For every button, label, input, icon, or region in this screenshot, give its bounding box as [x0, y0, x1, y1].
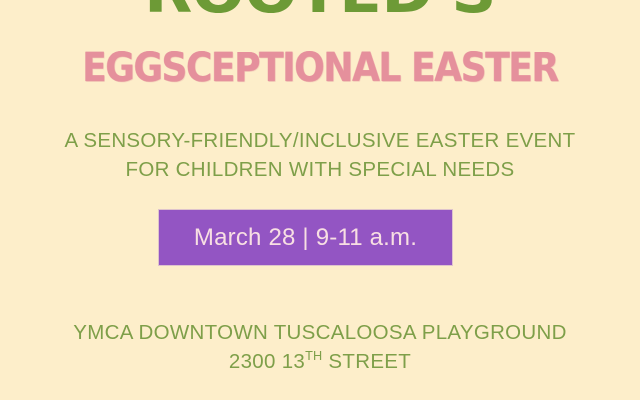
location-venue: YMCA DOWNTOWN TUSCALOOSA PLAYGROUND [0, 318, 640, 347]
date-time-text: March 28 | 9-11 a.m. [194, 225, 417, 251]
location-address: 2300 13TH STREET [0, 347, 640, 376]
address-ordinal-suffix: TH [305, 348, 322, 363]
brand-title: ROOTED'S [0, 0, 640, 25]
brand-title-container: ROOTED'S [0, 0, 640, 27]
subtitle-line-2: FOR CHILDREN WITH SPECIAL NEEDS [0, 155, 640, 184]
address-street-word: STREET [322, 350, 411, 373]
address-street-number: 2300 13 [229, 350, 305, 373]
event-location: YMCA DOWNTOWN TUSCALOOSA PLAYGROUND 2300… [0, 318, 640, 376]
subtitle-line-1: A SENSORY-FRIENDLY/INCLUSIVE EASTER EVEN… [0, 126, 640, 155]
event-headline: EGGSCEPTIONAL EASTER [10, 46, 631, 89]
event-flyer: ROOTED'S EGGSCEPTIONAL EASTER A SENSORY-… [0, 0, 640, 400]
event-subtitle: A SENSORY-FRIENDLY/INCLUSIVE EASTER EVEN… [0, 126, 640, 184]
date-time-banner: March 28 | 9-11 a.m. [159, 210, 452, 265]
